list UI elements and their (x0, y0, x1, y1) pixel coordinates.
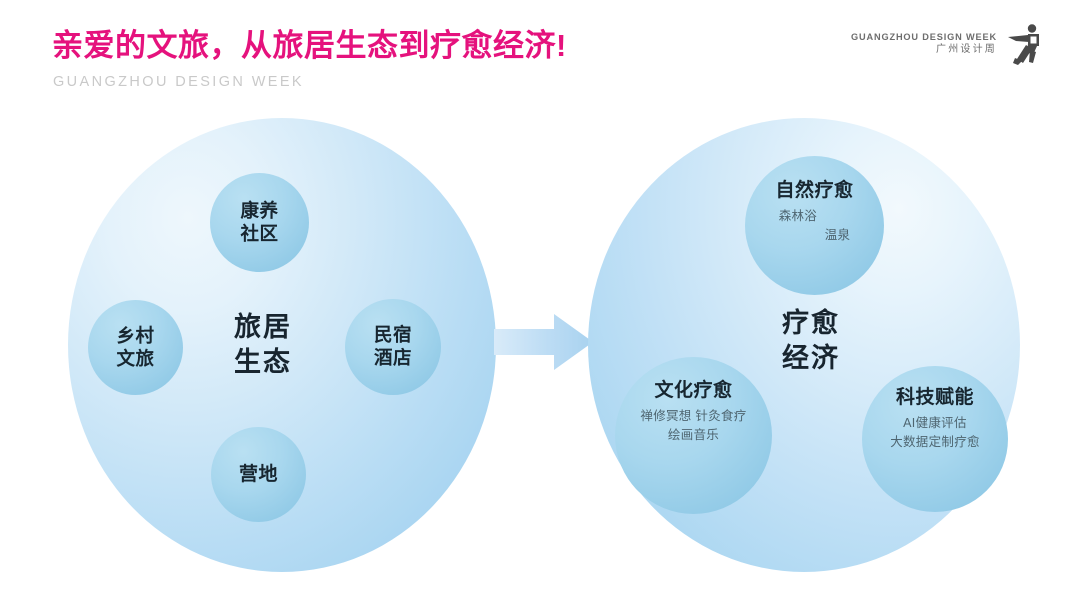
page-title: 亲爱的文旅，从旅居生态到疗愈经济! (52, 20, 567, 65)
flow-arrow (492, 306, 596, 378)
node-ziran-liaoyu[interactable]: 自然疗愈 森林浴 温泉 (745, 156, 884, 295)
brand-logo-text: GUANGZHOU DESIGN WEEK 广州设计周 (851, 31, 997, 57)
node-label: 自然疗愈 (775, 179, 853, 202)
node-sublabels: 森林浴 温泉 (779, 207, 851, 245)
brand-logo-en: GUANGZHOU DESIGN WEEK (851, 31, 997, 43)
brand-logo: GUANGZHOU DESIGN WEEK 广州设计周 (851, 22, 1044, 66)
node-kangyang-shequ[interactable]: 康养 社区 (210, 173, 309, 272)
winged-runner-icon (1006, 22, 1044, 66)
page-subtitle: GUANGZHOU DESIGN WEEK (53, 74, 304, 90)
ecosystem-center-label: 旅居 生态 (196, 310, 330, 379)
slide-header: 亲爱的文旅，从旅居生态到疗愈经济! GUANGZHOU DESIGN WEEK … (0, 0, 1080, 108)
node-label: 康养 社区 (240, 200, 278, 245)
healing-center-label: 疗愈 经济 (745, 306, 877, 375)
brand-logo-cn: 广州设计周 (851, 43, 997, 57)
node-minsu-jiudian[interactable]: 民宿 酒店 (345, 299, 441, 395)
node-wenhua-liaoyu[interactable]: 文化疗愈 禅修冥想 针灸食疗 绘画音乐 (615, 357, 772, 514)
node-label: 文化疗愈 (654, 379, 732, 402)
node-label: 民宿 酒店 (374, 324, 412, 369)
right-arrow-icon (492, 306, 596, 378)
node-label: 科技赋能 (896, 386, 974, 409)
node-sublabels: 禅修冥想 针灸食疗 绘画音乐 (640, 407, 746, 445)
node-xiangcun-wenlv[interactable]: 乡村 文旅 (88, 300, 183, 395)
slide-canvas: 亲爱的文旅，从旅居生态到疗愈经济! GUANGZHOU DESIGN WEEK … (0, 0, 1080, 608)
node-label: 营地 (239, 463, 278, 486)
node-yingdi[interactable]: 营地 (211, 427, 306, 522)
node-sublabels: AI健康评估 大数据定制疗愈 (890, 414, 980, 452)
node-keji-funeng[interactable]: 科技赋能 AI健康评估 大数据定制疗愈 (862, 366, 1008, 512)
node-label: 乡村 文旅 (116, 325, 154, 370)
